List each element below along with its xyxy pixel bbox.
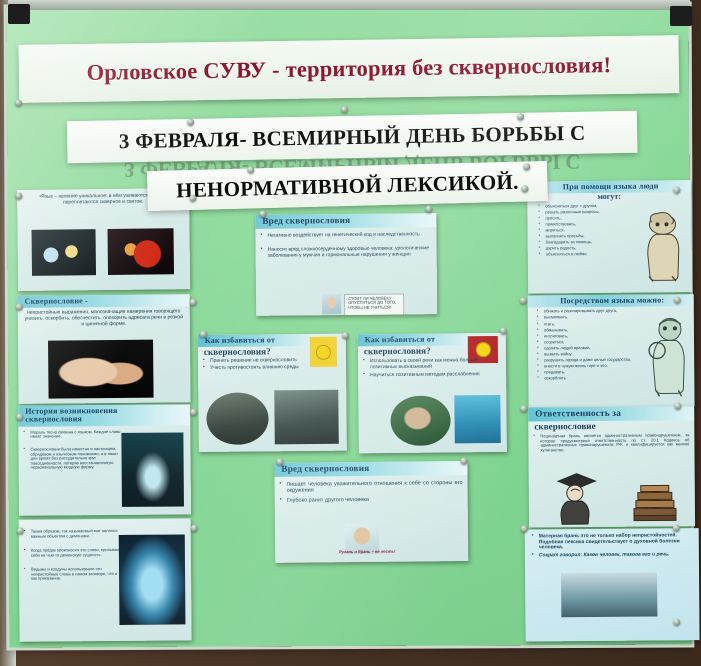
slide-bullet: объясняться друг с другом, [545, 203, 640, 208]
slide-bullet: оскорблять [544, 376, 652, 381]
slide-bullet: Лишает человека уважительного отношения … [287, 480, 463, 494]
board-corner-bracket [670, 6, 692, 26]
pin [461, 457, 468, 464]
pin [521, 185, 528, 192]
slide-language-can-do-good: При помощи языка люди могут: объясняться… [527, 180, 692, 294]
slide-bullet: просить, [545, 216, 640, 221]
slide-header-second-line: сквернословие [528, 421, 694, 432]
callout-text: СТОИТ ЛИ ЧЕЛОВЕКУ ОПУСТИТЬСЯ ДО ТОГО, ЧТ… [344, 293, 404, 315]
slide-harm-of-profanity-2: Вред сквернословия Лишает человека уважи… [274, 461, 468, 563]
pin [247, 166, 254, 173]
slide-bullet: ссориться, [544, 339, 652, 344]
slide-how-to-quit-1: Как избавиться от сквернословия? Принять… [198, 334, 347, 452]
pin [15, 192, 22, 199]
slide-bullet: Ведьмы и колдуны использовали эти неприс… [31, 567, 123, 581]
pin [425, 206, 432, 213]
pin [342, 332, 349, 339]
slide-bullet: внести в чужую жизнь горе и зло, [544, 364, 652, 369]
slide-bullet: лгать, [544, 321, 652, 326]
pin [200, 331, 207, 338]
slide-how-to-quit-2: Как избавиться от сквернословия? Использ… [358, 333, 507, 453]
slide-header: При помощи языка люди [527, 180, 691, 194]
pool-photo [454, 395, 500, 443]
pin [277, 458, 284, 465]
slide-header: Посредством языка можно: [528, 294, 694, 308]
slide-header: Сквернословие - [18, 294, 190, 308]
pin [16, 413, 23, 420]
slide-bullet: мириться, [546, 228, 641, 233]
slide-bullet: Негативно воздействует на генетический к… [267, 232, 431, 239]
graduate-sketch [551, 469, 601, 525]
cave-photo [121, 432, 184, 506]
slide-bullet: Когда предок произносил это слово, призы… [31, 548, 123, 558]
bw-crowd-photo [274, 390, 339, 445]
pin [674, 403, 681, 410]
pin [341, 106, 348, 113]
poster-subtitle-2: НЕНОРМАТИВНОЙ ЛЕКСИКОЙ. [176, 169, 519, 203]
pin [191, 525, 198, 532]
slide-header: Вред сквернословия [274, 461, 467, 477]
bw-work-photo [206, 392, 268, 445]
slide-harm-of-profanity-1: Вред сквернословия Негативно воздействуе… [255, 213, 437, 316]
slide-bullet: Нецензурная брань является административ… [540, 434, 689, 453]
slide-header: Вред сквернословия [255, 213, 436, 228]
slide-bullet: объясняться в любви [546, 252, 641, 257]
blue-face-photo [119, 534, 186, 625]
slide-bullet: дарить радость, [546, 246, 641, 251]
pin [674, 297, 681, 304]
slide-header: Как избавиться от [358, 333, 471, 346]
slide-bullet: приветствовать, [545, 222, 640, 227]
slide-history-continued: Таким образом, так называемый мат являлс… [19, 518, 192, 641]
slide-bullet: Наносит вред сложносердечному здоровью ч… [268, 246, 432, 259]
slide-legal-responsibility: Ответственность за сквернословие Нецензу… [528, 406, 695, 527]
pin [520, 405, 527, 412]
slide-header: Ответственность за [528, 406, 694, 421]
board-top-frame [8, 0, 690, 10]
pin [517, 113, 524, 120]
pin [190, 409, 197, 416]
slide-history-of-profanity: История возникновения сквернословия Мора… [18, 404, 191, 515]
page-title: Орловское СУВУ - территория без сквернос… [86, 52, 611, 86]
pin [520, 297, 527, 304]
slide-bullet: обманывать, [544, 327, 652, 332]
boy-dog-photo [390, 395, 450, 446]
slide-bullet: Мораль тесно связана с языком. Каждое сл… [30, 430, 125, 440]
slide-bullet: выполнять просьбы, [546, 234, 641, 239]
slide-bullet: сделать людей врагами, [544, 345, 652, 350]
hand-mouth-photo [48, 340, 154, 399]
old-man-sketch [637, 210, 686, 282]
pin [500, 327, 507, 334]
slide-bullet: Таким образом, так называемый мат являлс… [31, 529, 123, 539]
photo-caption: Ругань и брань – не лесть! [337, 550, 397, 555]
slide-header: История возникновения сквернословия [18, 404, 190, 426]
pin [16, 303, 23, 310]
poster-title-banner-1: Орловское СУВУ - территория без сквернос… [18, 35, 679, 103]
board-corner-bracket [8, 4, 30, 24]
pin [673, 525, 680, 532]
slide-bullet: предавать, [544, 370, 652, 375]
pin [17, 527, 24, 534]
pin [189, 195, 196, 202]
slide-profanity-definition: Сквернословие - непристойные выражения, … [18, 294, 191, 404]
pin [523, 163, 530, 170]
pin [15, 99, 22, 106]
slide-bullet: Матерная брань это не только набор непри… [539, 533, 694, 551]
slide-bullet: Глубоко ранит другого человека [287, 496, 463, 504]
information-board: Орловское СУВУ - территория без сквернос… [7, 5, 692, 648]
slide-bullet: Учесть противостоять влиянию среды [210, 365, 341, 372]
slide-bullet: Сквернословие было известно в настоящем,… [30, 447, 125, 471]
screenshot-root: Орловское СУВУ - территория без сквернос… [0, 0, 701, 666]
pin [190, 299, 197, 306]
slide-bullet: Сократ говорил: Каков человек, такова ег… [539, 552, 694, 559]
slide-bullet: благодарить за помощь, [546, 240, 641, 245]
girl-photo [322, 294, 341, 314]
slide-bullet: обижать и разочаровывать друг друга, [544, 309, 652, 314]
books-sketch [629, 482, 681, 524]
slide-bullet: решать различные вопросы, [545, 209, 640, 214]
slide-language-can-do-harm: Посредством языка можно: обижать и разоч… [528, 294, 695, 407]
crosses-photo [561, 573, 657, 618]
slide-bullet: Научиться позитивным методам расслаблени… [370, 372, 501, 379]
slide-body-text: непристойные выражения, малозначащие нам… [18, 307, 190, 332]
warrior-sketch [644, 316, 693, 396]
slide-header: Как избавиться от [198, 334, 314, 348]
angel-photo [32, 229, 97, 276]
slide-header-second-line: могут: [527, 192, 691, 202]
slide-bullet: Использовать в своей речи как можно боль… [370, 358, 501, 370]
pin [187, 119, 194, 126]
pin [673, 619, 680, 626]
slide-bullet: высмеивать, [544, 315, 652, 320]
devil-photo [108, 228, 175, 275]
pin [259, 210, 266, 217]
slide-bullet: интриговать, [544, 333, 652, 338]
pin [521, 525, 528, 532]
pin [673, 187, 680, 194]
smile-icon [475, 342, 490, 357]
